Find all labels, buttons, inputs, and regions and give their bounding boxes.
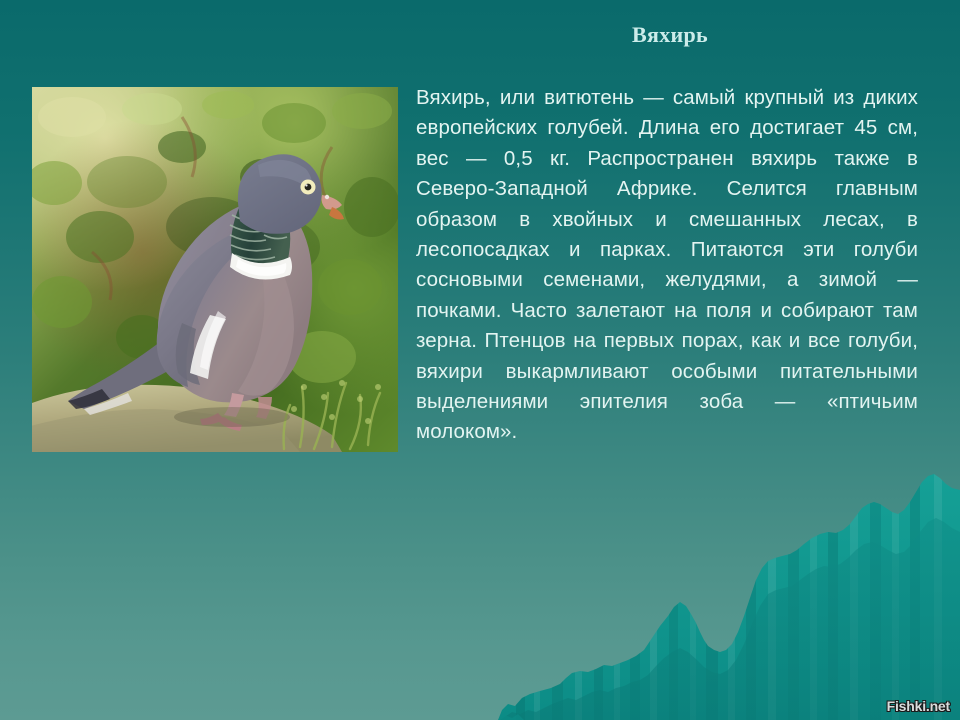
watermark-fishki-net: Fishki.net	[887, 698, 950, 714]
bird-photo	[32, 87, 398, 452]
mountain-foothill-left	[498, 714, 524, 720]
mountain-ridge-back	[498, 474, 960, 720]
body-text-block: Вяхирь, или витютень — самый крупный из …	[416, 83, 918, 448]
page-title: Вяхирь	[420, 22, 920, 48]
mountain-decoration-graphic	[0, 460, 960, 720]
body-paragraph: Вяхирь, или витютень — самый крупный из …	[416, 83, 918, 448]
bird-photo-illustration	[32, 87, 398, 452]
mountain-ridge-front	[500, 518, 960, 720]
presentation-slide: Вяхирь Вяхирь, или витютень — самый круп…	[0, 0, 960, 720]
mountain-striping	[516, 460, 942, 720]
